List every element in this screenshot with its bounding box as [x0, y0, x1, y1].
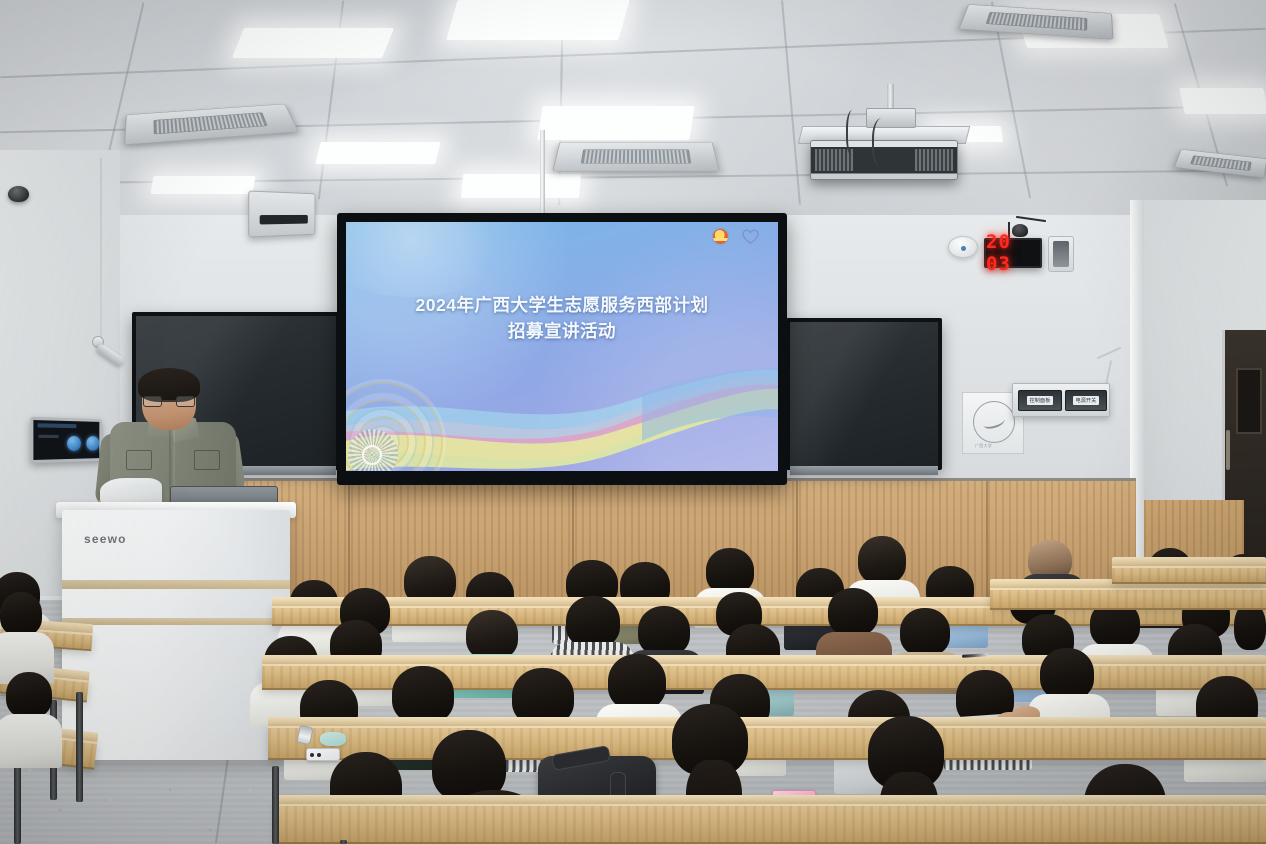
control-box-right[interactable]: 电源开关 [1065, 390, 1107, 411]
desk-row [276, 804, 1266, 844]
projector-vent [915, 149, 953, 170]
led-panel-light [232, 28, 394, 58]
desk-front-panel [990, 588, 1266, 610]
desk-surface [276, 795, 1266, 804]
led-panel-light [446, 0, 629, 40]
face-mask [320, 732, 346, 746]
glasses-lens-right [176, 396, 195, 407]
led-panel-light [1179, 88, 1266, 114]
desk-front-panel [268, 726, 1266, 760]
audience-head [828, 588, 878, 636]
projector-cable [872, 118, 896, 168]
door-handle[interactable] [1226, 430, 1230, 470]
door-window [1236, 368, 1262, 434]
desk-row [1112, 566, 1266, 584]
glasses-lens-left [143, 396, 162, 407]
audience-head [392, 666, 454, 724]
lecture-hall-photo: 广西大学 控制面板 电源开关 20 03 [0, 0, 1266, 844]
panel-icon-two[interactable] [86, 436, 99, 451]
glasses-bridge [162, 400, 176, 402]
led-panel-light [537, 106, 694, 140]
audience-head [638, 606, 690, 656]
wall-small-panel [1048, 236, 1074, 272]
audience-head [466, 610, 518, 660]
panel-icon-one[interactable] [67, 436, 81, 451]
led-panel-light [150, 176, 255, 194]
slide-title-line1: 2024年广西大学生志愿服务西部计划 [416, 295, 709, 315]
audience-head [0, 592, 42, 636]
wifi-access-point [948, 236, 978, 258]
slide-title: 2024年广西大学生志愿服务西部计划 招募宣讲活动 [346, 292, 778, 345]
led-panel-light [461, 174, 581, 198]
plaque-caption: 广西大学 [975, 443, 992, 449]
audience-head [1040, 648, 1094, 700]
desk-front-panel [1112, 566, 1266, 584]
slide-glow [346, 222, 510, 297]
shirt-pocket-left [126, 450, 152, 470]
hanging-cable [100, 158, 102, 338]
bronze-drum-center-ring [362, 445, 382, 465]
audience-head [900, 608, 950, 656]
desk-leg [14, 760, 21, 844]
presenter-glasses [143, 396, 195, 407]
school-emblem-icon [973, 401, 1015, 443]
digital-wall-clock: 20 03 [984, 238, 1042, 268]
audience-head [6, 672, 52, 718]
control-box-left[interactable]: 控制面板 [1018, 390, 1062, 411]
blackboard-right [786, 318, 942, 470]
led-panel-light [315, 142, 440, 164]
smartphone-white[interactable] [306, 748, 340, 761]
projector-cable [846, 110, 862, 156]
ac-grill [153, 113, 268, 135]
phone-camera-lens [310, 753, 314, 757]
desk-row [990, 588, 1266, 610]
audience-head [858, 536, 906, 584]
panel-title-bar [38, 423, 77, 428]
desk-leg [76, 692, 83, 802]
projector-vent [815, 149, 853, 170]
wall-speaker [248, 190, 315, 237]
podium-accent-band [62, 580, 290, 589]
youth-league-emblem-icon [713, 229, 728, 244]
panel-inner [1053, 241, 1069, 267]
podium-brand-label: seewo [84, 532, 127, 546]
board-gloss [790, 322, 938, 466]
panel-seam [986, 481, 988, 598]
presentation-slide: 2024年广西大学生志愿服务西部计划 招募宣讲活动 [346, 222, 778, 471]
board-chalk-tray [790, 466, 938, 475]
shirt-pocket-right [194, 450, 220, 470]
emblem-swoosh [982, 414, 1006, 430]
ac-grill [1190, 156, 1251, 172]
desk-surface [1112, 557, 1266, 566]
desk-row [268, 726, 1266, 760]
clock-time: 20 03 [986, 231, 1040, 275]
panel-seam [348, 481, 350, 598]
wall-touch-panel[interactable] [30, 417, 102, 464]
ac-grill [985, 12, 1087, 31]
slide-title-line2: 招募宣讲活动 [346, 318, 778, 344]
ac-grill [581, 149, 691, 163]
volunteer-heart-logo-icon [742, 229, 759, 245]
projection-screen[interactable]: 2024年广西大学生志愿服务西部计划 招募宣讲活动 [337, 213, 787, 485]
phone-camera-lens [317, 753, 321, 757]
ap-indicator-led [961, 246, 966, 251]
desk-surface [262, 655, 1266, 664]
emblem-band [713, 238, 728, 241]
security-camera-dome-icon [8, 186, 29, 202]
desk-leg [340, 840, 347, 844]
speaker-slot [259, 215, 307, 225]
air-conditioner-cassette [552, 142, 720, 172]
audience-head [608, 654, 666, 710]
control-box-right-label: 电源开关 [1073, 396, 1100, 405]
audience-person [0, 714, 62, 768]
desk-surface [268, 717, 1266, 726]
panel-text-line [39, 435, 59, 438]
podium-accent-band [62, 618, 290, 625]
wall-control-panel[interactable]: 控制面板 电源开关 [1012, 383, 1110, 417]
desk-leg [272, 766, 279, 844]
control-box-left-label: 控制面板 [1027, 396, 1054, 405]
desk-front-panel [276, 804, 1266, 844]
audience-head [566, 596, 620, 648]
